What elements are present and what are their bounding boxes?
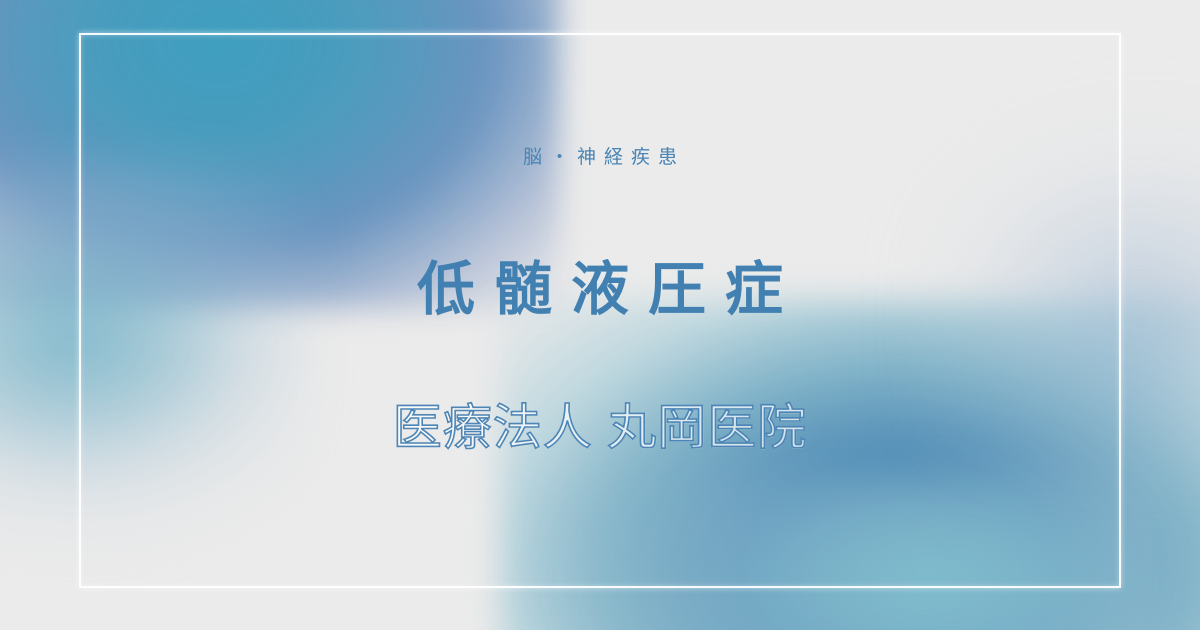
category-label: 脳・神経疾患 xyxy=(515,147,685,170)
clinic-name: 医療法人 丸岡医院 xyxy=(393,400,808,456)
title-card: 脳・神経疾患 低髄液圧症 医療法人 丸岡医院 xyxy=(0,0,1200,630)
page-title: 低髄液圧症 xyxy=(398,258,802,322)
title-card-content: 脳・神経疾患 低髄液圧症 医療法人 丸岡医院 xyxy=(0,0,1200,630)
